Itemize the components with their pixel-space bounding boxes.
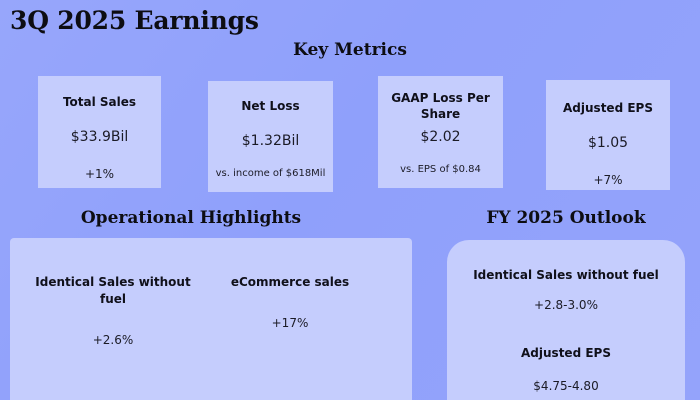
operational-item-label: Identical Sales without fuel [33, 274, 193, 308]
section-heading-fy-2025-outlook: FY 2025 Outlook [447, 208, 685, 228]
metric-note: +1% [85, 168, 114, 181]
section-heading-operational-highlights: Operational Highlights [10, 208, 372, 228]
operational-item: Identical Sales without fuel +2.6% [33, 274, 193, 348]
metric-note: vs. income of $618Mil [216, 167, 326, 180]
panel-fy-2025-outlook: Identical Sales without fuel +2.8-3.0% A… [447, 240, 685, 400]
metric-label: Adjusted EPS [563, 100, 653, 116]
metric-note: vs. EPS of $0.84 [400, 163, 481, 176]
operational-item: eCommerce sales +17% [210, 274, 370, 331]
metric-note: +7% [593, 174, 622, 187]
operational-item-value: +17% [210, 315, 370, 331]
metric-label: Net Loss [241, 98, 299, 114]
outlook-item-label: Adjusted EPS [447, 345, 685, 362]
outlook-item: Adjusted EPS $4.75-4.80 [447, 345, 685, 394]
metric-label: GAAP Loss Per Share [384, 90, 497, 122]
outlook-item-value: +2.8-3.0% [447, 297, 685, 313]
metric-label: Total Sales [63, 94, 136, 110]
metric-card-total-sales: Total Sales $33.9Bil +1% [38, 76, 161, 188]
outlook-item-label: Identical Sales without fuel [447, 267, 685, 284]
metric-value: $2.02 [420, 129, 460, 146]
operational-item-value: +2.6% [33, 332, 193, 348]
page-title: 3Q 2025 Earnings [10, 6, 259, 35]
metric-card-gaap-loss-per-share: GAAP Loss Per Share $2.02 vs. EPS of $0.… [378, 76, 503, 188]
outlook-item-value: $4.75-4.80 [447, 378, 685, 394]
metric-card-net-loss: Net Loss $1.32Bil vs. income of $618Mil [208, 81, 333, 192]
earnings-infographic: 3Q 2025 Earnings Key Metrics Total Sales… [0, 0, 700, 400]
metric-value: $33.9Bil [71, 129, 128, 146]
panel-operational-highlights: Identical Sales without fuel +2.6% eComm… [10, 238, 412, 400]
metric-value: $1.05 [588, 135, 628, 152]
operational-item-label: eCommerce sales [210, 274, 370, 291]
section-heading-key-metrics: Key Metrics [0, 40, 700, 60]
outlook-item: Identical Sales without fuel +2.8-3.0% [447, 267, 685, 313]
metric-value: $1.32Bil [242, 133, 299, 150]
metric-card-adjusted-eps: Adjusted EPS $1.05 +7% [546, 80, 670, 190]
